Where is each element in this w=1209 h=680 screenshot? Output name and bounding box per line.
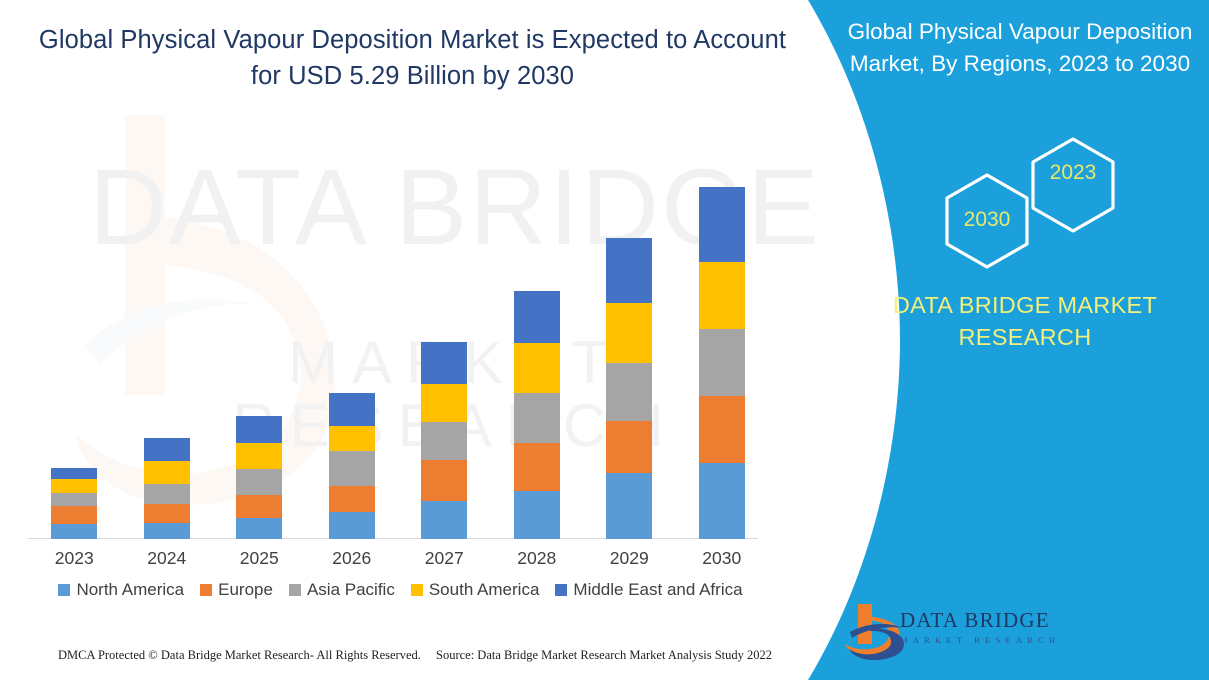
bar-segment <box>421 422 467 460</box>
bar-segment <box>421 501 467 539</box>
legend-swatch-icon <box>555 584 567 596</box>
bar-segment <box>699 396 745 463</box>
bar-segment <box>699 463 745 539</box>
bar-segment <box>144 484 190 504</box>
bar-segment <box>606 363 652 421</box>
chart-legend: North AmericaEuropeAsia PacificSouth Ame… <box>28 580 773 600</box>
right-panel-title: Global Physical Vapour Deposition Market… <box>845 16 1195 80</box>
bar-segment <box>699 262 745 329</box>
bar-segment <box>236 495 282 518</box>
legend-item-europe[interactable]: Europe <box>200 580 273 600</box>
hexagon-badges: 2023 2030 <box>925 133 1145 278</box>
bar-segment <box>699 187 745 262</box>
bar-segment <box>51 493 97 506</box>
footer-dmca-notice: DMCA Protected © Data Bridge Market Rese… <box>58 648 421 663</box>
legend-label: North America <box>76 580 184 600</box>
legend-item-south-america[interactable]: South America <box>411 580 540 600</box>
brand-name: DATA BRIDGE MARKET RESEARCH <box>860 290 1190 353</box>
brand-logo-text: DATA BRIDGE MARKET RESEARCH <box>900 608 1080 645</box>
bar-segment <box>421 384 467 422</box>
bar-segment <box>514 491 560 539</box>
hexagon-shapes <box>925 133 1145 278</box>
hexagon-2030-label: 2030 <box>947 208 1027 232</box>
bar-segment <box>144 523 190 539</box>
x-tick-label: 2028 <box>492 548 582 569</box>
legend-swatch-icon <box>200 584 212 596</box>
bar-segment <box>606 303 652 363</box>
chart-plot-area <box>28 170 768 539</box>
bar-segment <box>329 393 375 426</box>
legend-swatch-icon <box>58 584 70 596</box>
bar-segment <box>606 238 652 303</box>
brand-logo-subtitle: MARKET RESEARCH <box>900 635 1080 645</box>
legend-item-asia-pacific[interactable]: Asia Pacific <box>289 580 395 600</box>
bar-segment <box>699 329 745 396</box>
bar-segment <box>514 443 560 491</box>
bar-segment <box>236 443 282 469</box>
bar-segment <box>144 504 190 523</box>
x-tick-label: 2027 <box>399 548 489 569</box>
bar-column <box>421 342 467 539</box>
bar-segment <box>514 393 560 443</box>
bar-segment <box>51 479 97 493</box>
bar-segment <box>51 506 97 524</box>
brand-logo-title: DATA BRIDGE <box>900 608 1080 633</box>
legend-swatch-icon <box>411 584 423 596</box>
infographic-canvas: DATA BRIDGE MARKET RESEARCH Global Physi… <box>0 0 1209 680</box>
bar-column <box>329 393 375 539</box>
bar-segment <box>51 468 97 479</box>
x-tick-label: 2023 <box>29 548 119 569</box>
legend-label: Asia Pacific <box>307 580 395 600</box>
bar-segment <box>236 416 282 443</box>
legend-label: Europe <box>218 580 273 600</box>
bar-segment <box>421 460 467 501</box>
legend-swatch-icon <box>289 584 301 596</box>
stacked-bar-chart: 20232024202520262027202820292030 North A… <box>0 0 800 600</box>
bar-column <box>144 438 190 539</box>
bar-segment <box>236 469 282 495</box>
x-tick-label: 2026 <box>307 548 397 569</box>
bar-segment <box>51 524 97 539</box>
x-tick-label: 2030 <box>677 548 767 569</box>
hexagon-2023-shape <box>1033 139 1113 231</box>
x-tick-label: 2024 <box>122 548 212 569</box>
bar-segment <box>236 518 282 539</box>
bar-column <box>51 468 97 539</box>
footer-source-note: Source: Data Bridge Market Research Mark… <box>436 648 772 663</box>
bar-segment <box>144 438 190 461</box>
bar-segment <box>606 473 652 539</box>
bar-segment <box>514 343 560 393</box>
legend-item-north-america[interactable]: North America <box>58 580 184 600</box>
legend-label: Middle East and Africa <box>573 580 742 600</box>
bar-segment <box>144 461 190 484</box>
bar-segment <box>421 342 467 384</box>
bar-segment <box>514 291 560 343</box>
legend-label: South America <box>429 580 540 600</box>
bar-column <box>699 187 745 539</box>
bar-segment <box>329 426 375 451</box>
legend-item-middle-east-and-africa[interactable]: Middle East and Africa <box>555 580 742 600</box>
bar-segment <box>329 486 375 512</box>
bar-segment <box>606 421 652 473</box>
bar-column <box>236 416 282 539</box>
x-tick-label: 2029 <box>584 548 674 569</box>
bar-column <box>606 238 652 539</box>
bar-segment <box>329 512 375 539</box>
x-tick-label: 2025 <box>214 548 304 569</box>
bar-segment <box>329 451 375 486</box>
hexagon-2023-label: 2023 <box>1033 161 1113 185</box>
bar-column <box>514 291 560 539</box>
